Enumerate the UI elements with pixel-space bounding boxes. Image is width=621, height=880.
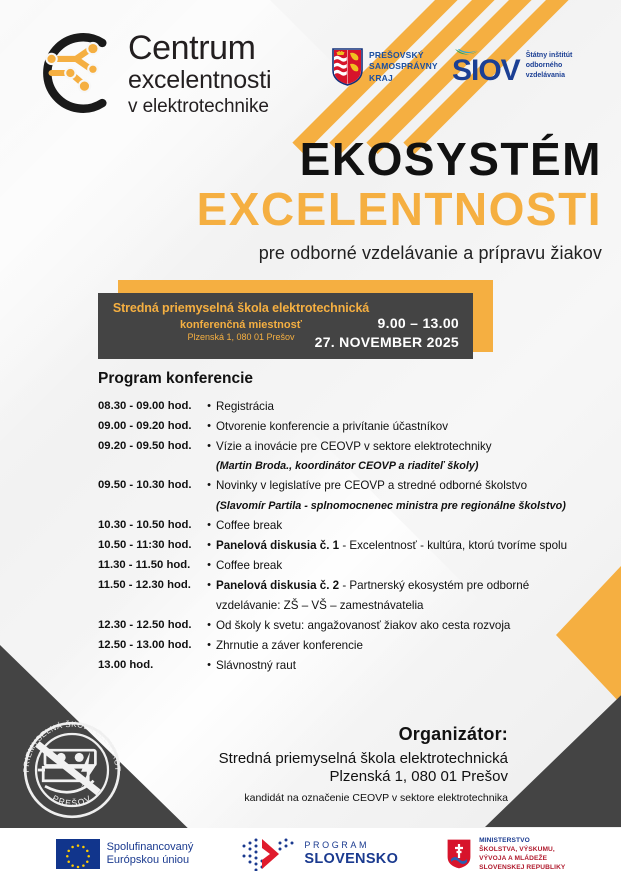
program-slovensko-line2: SLOVENSKO bbox=[304, 851, 398, 868]
ministry-line4: SLOVENSKEJ REPUBLIKY bbox=[479, 863, 565, 872]
program-row-bullet-icon: • bbox=[202, 538, 216, 553]
program-row: 09.00 - 09.20 hod.•Otvorenie konferencie… bbox=[98, 419, 608, 435]
venue-time: 9.00 – 13.00 bbox=[315, 315, 459, 331]
siov-sub3: vzdelávania bbox=[526, 71, 573, 81]
venue-school-name: Stredná priemyselná škola elektrotechnic… bbox=[112, 301, 370, 315]
program-row-time: 10.30 - 10.50 hod. bbox=[98, 518, 202, 533]
program-row: 13.00 hod.•Slávnostný raut bbox=[98, 658, 608, 674]
program-slovensko-arrow-icon bbox=[241, 837, 297, 871]
logo-centrum-line2: excelentnosti bbox=[128, 68, 271, 93]
svg-text:PREŠOV: PREŠOV bbox=[51, 793, 94, 808]
psk-line1: PREŠOVSKÝ bbox=[369, 50, 438, 61]
poster-footer: Spolufinancovaný Európskou úniou PROGRAM bbox=[0, 828, 621, 880]
program-row-description: Registrácia bbox=[216, 399, 274, 415]
program-row-time: 13.00 hod. bbox=[98, 658, 202, 673]
program-row-bullet-icon: • bbox=[202, 638, 216, 653]
title-subtitle: pre odborné vzdelávanie a prípravu žiako… bbox=[0, 243, 602, 264]
eu-flag-icon bbox=[56, 839, 100, 869]
siov-acronym: SIOV bbox=[452, 58, 520, 84]
program-section: Program konferencie 08.30 - 09.00 hod.•R… bbox=[98, 370, 608, 678]
program-row-bullet-icon: • bbox=[202, 439, 216, 454]
program-row-description: Coffee break bbox=[216, 518, 282, 534]
program-row-time: 09.20 - 09.50 hod. bbox=[98, 439, 202, 454]
program-row: 12.50 - 13.00 hod.•Zhrnutie a záver konf… bbox=[98, 638, 608, 654]
program-row-continuation: vzdelávanie: ZŠ – VŠ – zamestnávatelia bbox=[216, 598, 608, 614]
title-line-excelentnosti: EXCELENTNOSTI bbox=[0, 186, 602, 234]
program-row-description: Otvorenie konferencie a privítanie účast… bbox=[216, 419, 448, 435]
program-row-description: Od školy k svetu: angažovanosť žiakov ak… bbox=[216, 618, 510, 634]
program-row-description: Panelová diskusia č. 1 - Excelentnosť - … bbox=[216, 538, 567, 554]
psk-line3: KRAJ bbox=[369, 73, 438, 84]
ministry-line1: MINISTERSTVO bbox=[479, 836, 565, 845]
program-row-title-rest: - Partnerský ekosystém pre odborné bbox=[339, 579, 529, 592]
program-row-description: Panelová diskusia č. 2 - Partnerský ekos… bbox=[216, 578, 529, 594]
program-row: 11.50 - 12.30 hod.•Panelová diskusia č. … bbox=[98, 578, 608, 594]
program-row-description: Vízie a inovácie pre CEOVP v sektore ele… bbox=[216, 439, 492, 455]
program-row-bullet-icon: • bbox=[202, 558, 216, 573]
title-line-ekosystem: EKOSYSTÉM bbox=[0, 136, 602, 184]
venue-date: 27. NOVEMBER 2025 bbox=[315, 334, 459, 350]
program-row-bullet-icon: • bbox=[202, 478, 216, 493]
program-row-time: 12.50 - 13.00 hod. bbox=[98, 638, 202, 653]
program-row: 08.30 - 09.00 hod.•Registrácia bbox=[98, 399, 608, 415]
organizer-address: Plzenská 1, 080 01 Prešov bbox=[219, 768, 508, 785]
organizer-note: kandidát na označenie CEOVP v sektore el… bbox=[219, 792, 508, 804]
program-row-time: 09.00 - 09.20 hod. bbox=[98, 419, 202, 434]
program-row-speaker-note: (Martin Broda., koordinátor CEOVP a riad… bbox=[216, 459, 608, 473]
program-row-time: 11.50 - 12.30 hod. bbox=[98, 578, 202, 593]
program-heading: Program konferencie bbox=[98, 370, 608, 388]
logo-siov: SIOV Štátny inštitút odborného vzdelávan… bbox=[452, 48, 572, 84]
program-row-bullet-icon: • bbox=[202, 618, 216, 633]
siov-sub2: odborného bbox=[526, 61, 573, 71]
program-row: 10.50 - 11:30 hod.•Panelová diskusia č. … bbox=[98, 538, 608, 554]
ministry-line2: ŠKOLSTVA, VÝSKUMU, bbox=[479, 845, 565, 854]
program-row-description: Zhrnutie a záver konferencie bbox=[216, 638, 363, 654]
program-row-bullet-icon: • bbox=[202, 399, 216, 414]
program-row-description: Novinky v legislatíve pre CEOVP a stredn… bbox=[216, 478, 527, 494]
organizer-label: Organizátor: bbox=[219, 724, 508, 745]
logo-centrum-line1: Centrum bbox=[128, 31, 271, 65]
circuit-c-logo-icon bbox=[28, 26, 124, 120]
program-list: 08.30 - 09.00 hod.•Registrácia09.00 - 09… bbox=[98, 399, 608, 674]
seal-city-text: PREŠOV bbox=[51, 793, 94, 808]
program-row-bullet-icon: • bbox=[202, 658, 216, 673]
program-row-bullet-icon: • bbox=[202, 518, 216, 533]
program-row-title-rest: - Excelentnosť - kultúra, ktorú tvoríme … bbox=[339, 539, 567, 552]
program-row-time: 12.30 - 12.50 hod. bbox=[98, 618, 202, 633]
program-row-description: Slávnostný raut bbox=[216, 658, 296, 674]
program-row-speaker-note: (Slavomír Partila - splnomocnenec minist… bbox=[216, 499, 608, 513]
program-row-title-bold: Panelová diskusia č. 1 bbox=[216, 539, 339, 552]
program-row: 12.30 - 12.50 hod.•Od školy k svetu: ang… bbox=[98, 618, 608, 634]
footer-logo-program-slovensko: PROGRAM SLOVENSKO bbox=[241, 837, 398, 871]
program-row-description: Coffee break bbox=[216, 558, 282, 574]
slovak-coat-of-arms-icon bbox=[446, 838, 472, 870]
program-row: 09.20 - 09.50 hod.•Vízie a inovácie pre … bbox=[98, 439, 608, 455]
program-row-time: 10.50 - 11:30 hod. bbox=[98, 538, 202, 553]
program-row-title-bold: Panelová diskusia č. 2 bbox=[216, 579, 339, 592]
program-row: 11.30 - 11.50 hod.•Coffee break bbox=[98, 558, 608, 574]
logo-presovsky-samospravny-kraj: PREŠOVSKÝ SAMOSPRÁVNY KRAJ bbox=[332, 48, 438, 86]
organizer-section: Organizátor: Stredná priemyselná škola e… bbox=[219, 724, 508, 804]
conference-poster: Centrum excelentnosti v elektrotechnike bbox=[0, 0, 621, 880]
school-seal-emblem-icon: STREDNÁ PRIEMYSELNÁ ŠKOLA ELEKTROTECHNIC… bbox=[18, 716, 126, 824]
program-row-time: 08.30 - 09.00 hod. bbox=[98, 399, 202, 414]
program-row-bullet-icon: • bbox=[202, 578, 216, 593]
program-row: 10.30 - 10.50 hod.•Coffee break bbox=[98, 518, 608, 534]
presov-region-coat-of-arms-icon bbox=[332, 48, 363, 86]
logo-centrum-excelentnosti: Centrum excelentnosti v elektrotechnike bbox=[28, 26, 271, 120]
ministry-line3: VÝVOJA A MLÁDEŽE bbox=[479, 854, 565, 863]
logo-centrum-line3: v elektrotechnike bbox=[128, 97, 271, 116]
siov-sub1: Štátny inštitút bbox=[526, 51, 573, 61]
program-row-bullet-icon: • bbox=[202, 419, 216, 434]
poster-header: Centrum excelentnosti v elektrotechnike bbox=[0, 0, 621, 132]
footer-logo-eu: Spolufinancovaný Európskou úniou bbox=[56, 839, 194, 869]
poster-title-block: EKOSYSTÉM EXCELENTNOSTI pre odborné vzde… bbox=[0, 136, 602, 264]
program-row-time: 09.50 - 10.30 hod. bbox=[98, 478, 202, 493]
eu-line2: Európskou úniou bbox=[107, 854, 194, 867]
eu-line1: Spolufinancovaný bbox=[107, 841, 194, 854]
psk-line2: SAMOSPRÁVNY bbox=[369, 61, 438, 72]
program-row-time: 11.30 - 11.50 hod. bbox=[98, 558, 202, 573]
program-row: 09.50 - 10.30 hod.•Novinky v legislatíve… bbox=[98, 478, 608, 494]
program-slovensko-line1: PROGRAM bbox=[304, 840, 398, 851]
organizer-school: Stredná priemyselná škola elektrotechnic… bbox=[219, 750, 508, 767]
footer-logo-ministry: MINISTERSTVO ŠKOLSTVA, VÝSKUMU, VÝVOJA A… bbox=[446, 836, 565, 873]
venue-info-box: Stredná priemyselná škola elektrotechnic… bbox=[98, 293, 473, 359]
